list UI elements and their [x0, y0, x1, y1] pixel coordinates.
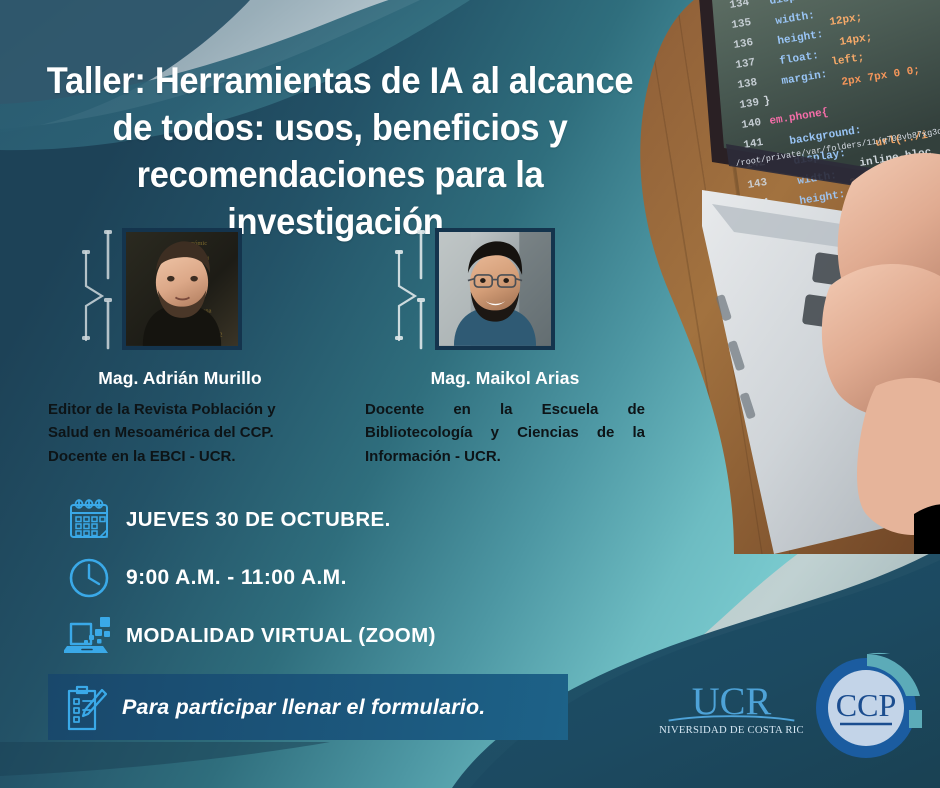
speaker-photo-2 [435, 228, 555, 350]
detail-text-time: 9:00 A.M. - 11:00 A.M. [126, 566, 347, 590]
speaker-role-2: Docente en la Escuela de Bibliotecología… [355, 398, 655, 468]
clock-icon [52, 555, 126, 601]
speaker-card-2: Mag. Maikol Arias Docente en la Escuela … [355, 228, 655, 468]
detail-row-time: 9:00 A.M. - 11:00 A.M. [52, 550, 612, 606]
ucr-subtitle: UNIVERSIDAD DE COSTA RICA [659, 725, 804, 736]
speaker-name-2: Mag. Maikol Arias [355, 368, 655, 389]
speaker-role-line: Docente en la EBCI - UCR. [48, 445, 350, 468]
speaker-photo-1: onómic a la efi e a la Homena en el cer … [122, 228, 242, 350]
ccp-acronym: CCP [836, 687, 896, 723]
registration-cta-text: Para participar llenar el formulario. [122, 695, 485, 720]
laptop-icon [52, 614, 126, 658]
speaker-role-line: Docente en la Escuela de [365, 398, 645, 421]
detail-text-date: JUEVES 30 DE OCTUBRE. [126, 508, 391, 532]
speaker-role-line: Bibliotecología y Ciencias de la [365, 421, 645, 444]
detail-row-mode: MODALIDAD VIRTUAL (ZOOM) [52, 608, 612, 664]
calendar-icon [52, 497, 126, 543]
speaker-role-line: Editor de la Revista Población y [48, 398, 350, 421]
form-clipboard-icon [48, 683, 122, 731]
portrait-adrian-murillo: onómic a la efi e a la Homena en el cer … [126, 232, 238, 346]
decorative-bracket-icon [72, 230, 118, 350]
speaker-photo-wrap-2 [355, 228, 655, 356]
speaker-name-1: Mag. Adrián Murillo [10, 368, 350, 389]
portrait-maikol-arias [439, 232, 551, 346]
registration-cta-banner[interactable]: Para participar llenar el formulario. [48, 674, 568, 740]
page-title: Taller: Herramientas de IA al alcance de… [31, 58, 649, 246]
speaker-photo-wrap-1: onómic a la efi e a la Homena en el cer … [10, 228, 350, 356]
poster-root: 134 135 136 137 138 139 140 141 display:… [0, 0, 940, 788]
speaker-role-line: Información - UCR. [365, 445, 645, 468]
ucr-logo: UCR UNIVERSIDAD DE COSTA RICA [659, 679, 804, 737]
detail-text-mode: MODALIDAD VIRTUAL (ZOOM) [126, 624, 436, 648]
event-details: JUEVES 30 DE OCTUBRE. 9:00 A.M. - 11:00 … [52, 492, 612, 664]
detail-row-date: JUEVES 30 DE OCTUBRE. [52, 492, 612, 548]
ccp-logo: CCP [810, 652, 922, 764]
decorative-bracket-icon [385, 230, 431, 350]
speaker-card-1: onómic a la efi e a la Homena en el cer … [10, 228, 350, 468]
speaker-role-1: Editor de la Revista Población y Salud e… [10, 398, 350, 468]
logo-group: UCR UNIVERSIDAD DE COSTA RICA CCP [659, 652, 922, 764]
speaker-role-line: Salud en Mesoamérica del CCP. [48, 421, 350, 444]
